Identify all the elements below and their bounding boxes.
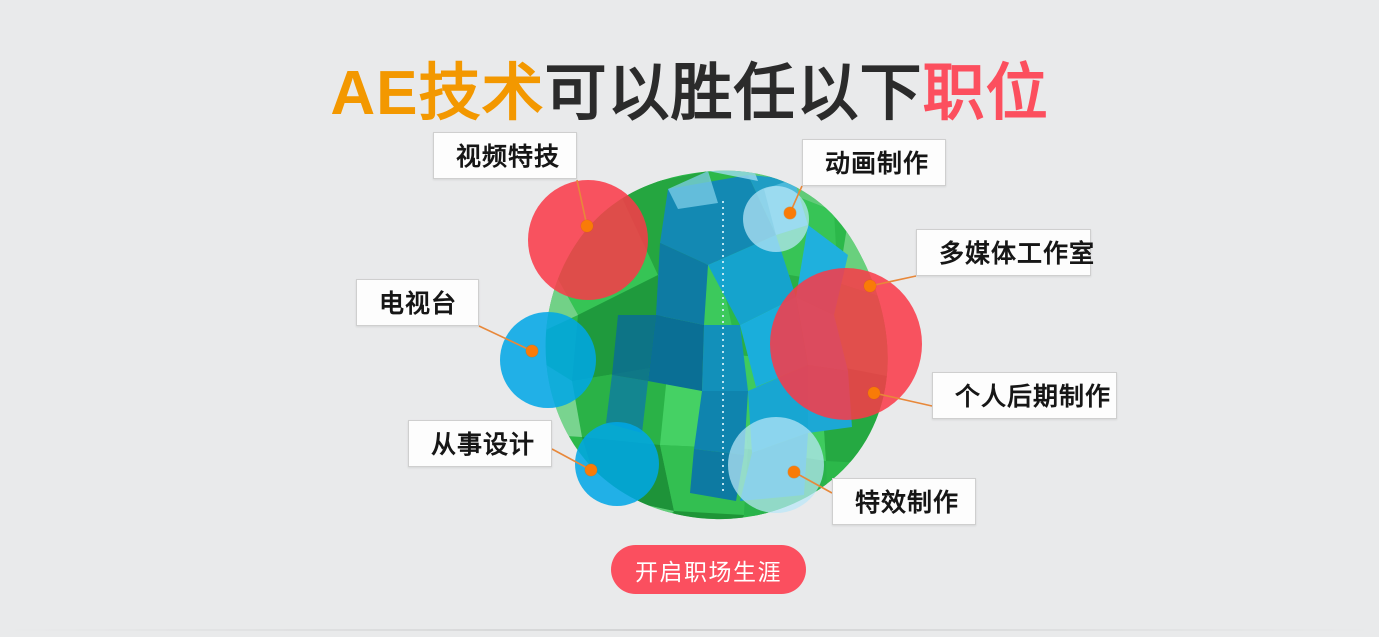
bubble-animation [743, 186, 809, 252]
bubble-tv-station [500, 312, 596, 408]
connector-dot-personal-post-production [868, 387, 880, 399]
connector-dot-animation [784, 207, 796, 219]
callout-label-special-effects[interactable]: 特效制作 [832, 478, 976, 525]
slide-canvas: AE技术可以胜任以下职位 [0, 0, 1379, 637]
title-segment-highlight: AE技术 [330, 59, 544, 128]
bubble-video-fx [528, 180, 648, 300]
callout-label-multimedia-studio[interactable]: 多媒体工作室 [916, 229, 1091, 276]
title-segment-body: 可以胜任以下 [545, 59, 923, 128]
connector-dot-design-work [585, 464, 597, 476]
connector-dot-tv-station [526, 345, 538, 357]
section-divider [0, 629, 1379, 631]
bubble-special-effects [728, 417, 824, 513]
callout-label-personal-post-production[interactable]: 个人后期制作 [932, 372, 1117, 419]
title-segment-accent: 职位 [923, 59, 1049, 128]
connector-dot-special-effects [788, 466, 800, 478]
bubble-multimedia [770, 268, 922, 420]
callout-label-tv-station[interactable]: 电视台 [356, 279, 479, 326]
callout-label-animation[interactable]: 动画制作 [802, 139, 946, 186]
callout-label-design-work[interactable]: 从事设计 [408, 420, 552, 467]
connector-dot-multimedia-studio [864, 280, 876, 292]
callout-label-video-fx[interactable]: 视频特技 [433, 132, 577, 179]
connector-dot-video-fx [581, 220, 593, 232]
page-title: AE技术可以胜任以下职位 [0, 60, 1379, 128]
start-career-button[interactable]: 开启职场生涯 [611, 545, 806, 594]
